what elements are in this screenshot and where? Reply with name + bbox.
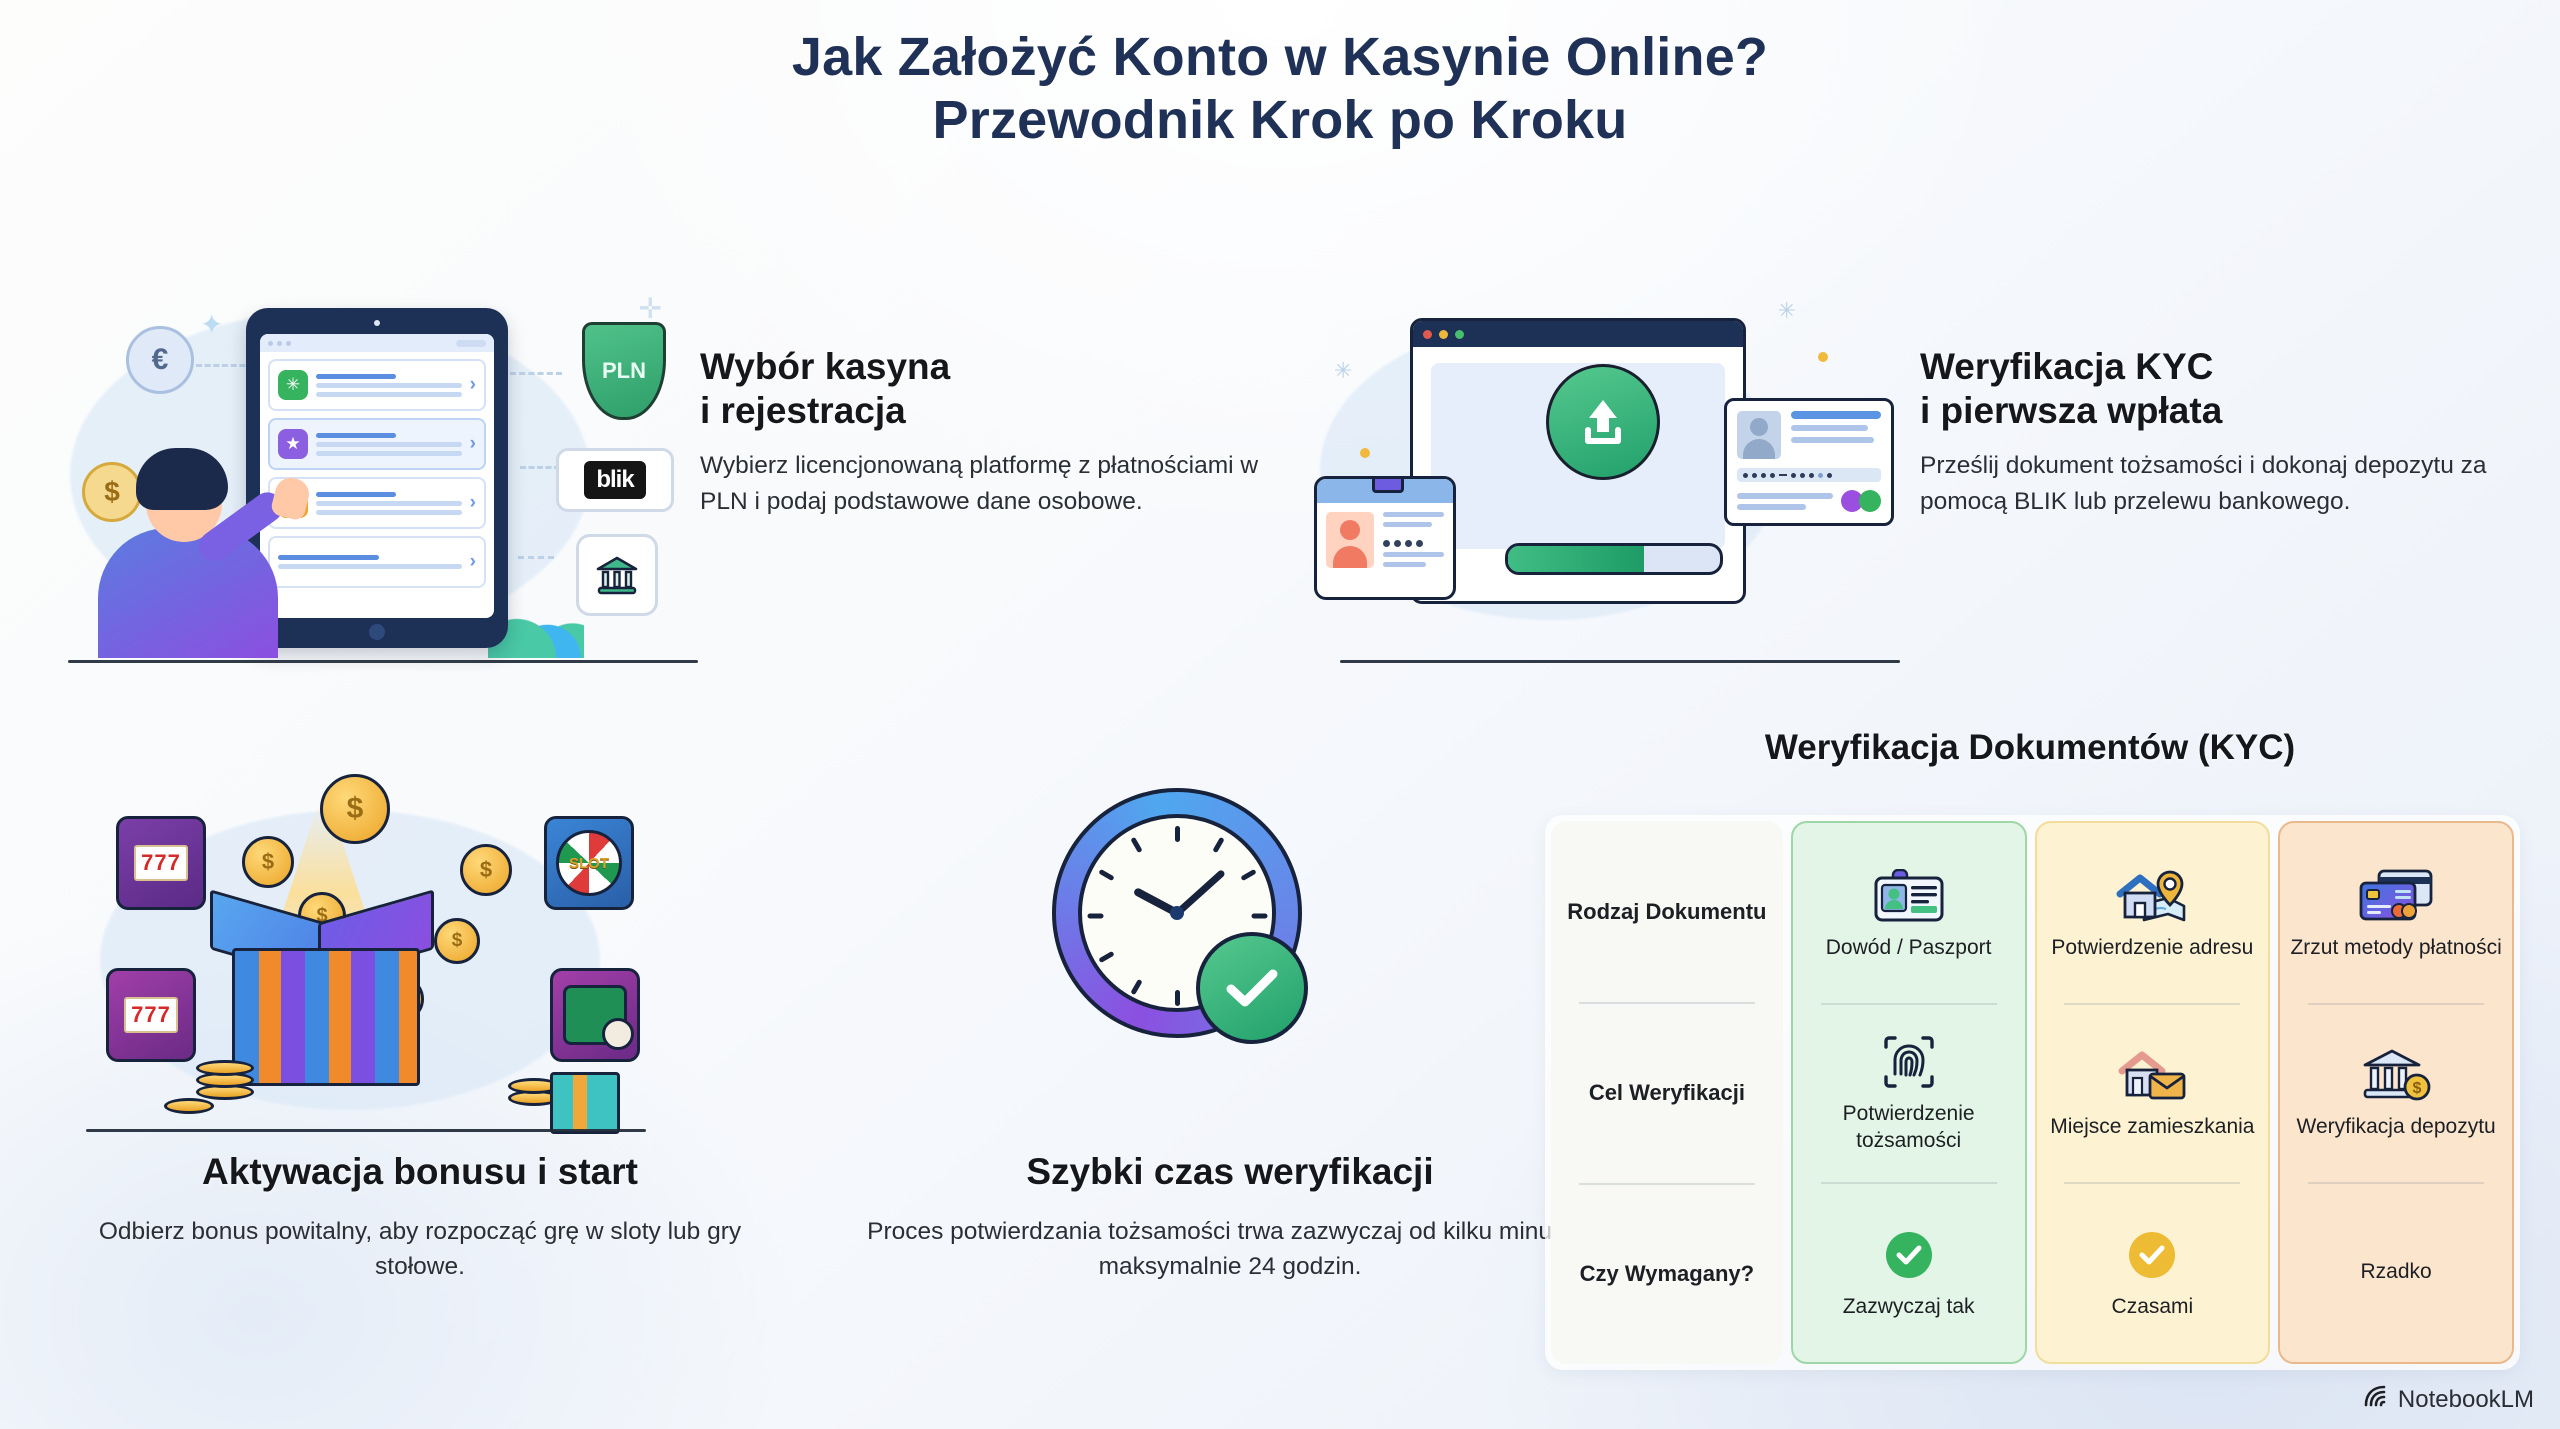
baseline-rule [86, 1129, 646, 1132]
dashed-connector [510, 372, 562, 375]
notebooklm-watermark: NotebookLM [2363, 1384, 2534, 1415]
illustration-clock [960, 770, 1440, 1110]
step-description: Proces potwierdzania tożsamości trwa zaz… [860, 1214, 1600, 1285]
casino-spin-icon: ✳ [278, 370, 308, 400]
kyc-column-identity: Dowód / Paszport Potwierdzenie tożsamośc… [1791, 821, 2027, 1364]
clock-center-pin [1170, 906, 1184, 920]
id-number-strip [1737, 468, 1881, 482]
person-illustration [98, 448, 288, 658]
roulette-wheel-tile: SLOT [544, 816, 634, 910]
close-icon[interactable] [1423, 330, 1432, 339]
gold-coin-icon: $ [242, 836, 294, 888]
app-titlebar [260, 334, 494, 352]
house-map-pin-icon [2114, 865, 2190, 927]
kyc-cell: Potwierdzenie tożsamości [1793, 1003, 2025, 1183]
check-circle-icon [1196, 932, 1308, 1044]
item-text-lines [316, 374, 462, 397]
dot-decoration [1360, 448, 1370, 458]
step-description: Prześlij dokument tożsamości i dokonaj d… [1920, 448, 2520, 519]
kyc-cell: Rzadko [2280, 1182, 2512, 1362]
coin-stack-icon [164, 1098, 214, 1114]
kyc-column-payment: Zrzut metody płatności $ Weryfikacja dep… [2278, 821, 2514, 1364]
card-scheme-icon [1841, 490, 1881, 512]
window-dot [268, 341, 273, 346]
window-dot [277, 341, 282, 346]
titlebar-pill [456, 340, 486, 347]
kyc-row-label: Cel Weryfikacji [1551, 1002, 1783, 1183]
id-photo [1737, 411, 1781, 459]
chevron-right-icon: › [470, 551, 476, 573]
fingerprint-icon [1880, 1031, 1938, 1093]
dot-decoration [1818, 352, 1828, 362]
maximize-icon[interactable] [1455, 330, 1464, 339]
casino-list-item-selected[interactable]: ★ › [268, 418, 486, 470]
badge-clip-icon [1372, 476, 1404, 493]
browser-titlebar [1413, 321, 1743, 347]
chevron-right-icon: › [470, 492, 476, 514]
kyc-cell: $ Weryfikacja depozytu [2280, 1003, 2512, 1183]
step-heading: Szybki czas weryfikacji [860, 1150, 1600, 1194]
gift-box [232, 948, 420, 1086]
item-text-lines [316, 433, 462, 456]
sparkle-icon: ✦ [200, 308, 223, 341]
upload-progress-bar [1505, 543, 1723, 575]
kyc-row-label: Rodzaj Dokumentu [1551, 821, 1783, 1002]
euro-coin-icon: € [126, 326, 194, 394]
person-body [98, 528, 278, 658]
badge-dots [1383, 540, 1444, 547]
chevron-right-icon: › [470, 433, 476, 455]
baseline-rule [1340, 660, 1900, 663]
check-circle-icon [1886, 1224, 1932, 1286]
svg-text:$: $ [2413, 1080, 2422, 1097]
notebooklm-label: NotebookLM [2398, 1386, 2534, 1414]
id-text-lines [1791, 411, 1881, 459]
person-hair [136, 448, 228, 510]
baseline-rule [68, 660, 698, 663]
dashed-connector [518, 556, 554, 559]
badge-text-lines [1383, 512, 1444, 568]
tablet-screen: ✳ › ★ › ฿ › › [260, 334, 494, 618]
credit-cards-icon [2357, 865, 2435, 927]
gold-coin-icon: $ [320, 774, 390, 844]
gold-coin-icon: $ [460, 844, 512, 896]
title-line-1: Jak Założyć Konto w Kasynie Online? [792, 27, 1768, 87]
step-heading: Aktywacja bonusu i start [60, 1150, 780, 1194]
step-aktywacja-bonusu: Aktywacja bonusu i start Odbierz bonus p… [60, 1150, 780, 1285]
casino-list-item[interactable]: ✳ › [268, 359, 486, 411]
page-title: Jak Założyć Konto w Kasynie Online? Prze… [0, 26, 2560, 151]
kyc-column-labels: Rodzaj Dokumentu Cel Weryfikacji Czy Wym… [1551, 821, 1783, 1364]
table-game-tile [550, 968, 640, 1062]
sparkle-icon: ✳ [1778, 298, 1796, 324]
item-text-lines [316, 492, 462, 515]
sparkle-icon: ✳ [1334, 358, 1352, 384]
step-description: Wybierz licencjonowaną platformę z płatn… [700, 448, 1300, 519]
step-heading: Weryfikacja KYC i pierwsza wpłata [1920, 345, 2520, 432]
kyc-table: Rodzaj Dokumentu Cel Weryfikacji Czy Wym… [1545, 815, 2520, 1370]
plus-sparkle-icon: ✛ [639, 292, 662, 325]
infographic-page: Jak Założyć Konto w Kasynie Online? Prze… [0, 0, 2560, 1429]
step-weryfikacja-kyc: Weryfikacja KYC i pierwsza wpłata Prześl… [1920, 345, 2520, 519]
id-card-icon [1873, 865, 1945, 927]
step-description: Odbierz bonus powitalny, aby rozpocząć g… [60, 1214, 780, 1285]
badge-photo [1326, 512, 1374, 568]
minimize-icon[interactable] [1439, 330, 1448, 339]
kyc-row-label: Czy Wymagany? [1551, 1183, 1783, 1364]
small-gift-icon [550, 1072, 620, 1134]
notebooklm-spiral-icon [2363, 1384, 2389, 1415]
chevron-right-icon: › [470, 374, 476, 396]
kyc-cell: Zazwyczaj tak [1793, 1182, 2025, 1362]
slot-tile-777: 777 [106, 968, 196, 1062]
item-text-lines [278, 555, 462, 569]
step-czas-weryfikacji: Szybki czas weryfikacji Proces potwierdz… [860, 1150, 1600, 1285]
illustration-bonus-box: 777 777 SLOT $ $ $ $ $ $ $ [60, 760, 680, 1140]
wheel-icon: SLOT [556, 830, 622, 896]
casino-list-item[interactable]: › [268, 536, 486, 588]
tablet-home-button [369, 624, 385, 640]
kyc-cell: Zrzut metody płatności [2280, 823, 2512, 1003]
kyc-column-address: Potwierdzenie adresu Miejsce zamieszkani… [2035, 821, 2271, 1364]
house-envelope-icon [2116, 1044, 2188, 1106]
illustration-casino-selection: ✦ ✛ ✦ € $ ✳ [60, 280, 680, 660]
blik-logo: blik [556, 448, 674, 512]
casino-table-icon [563, 985, 627, 1045]
bank-coin-icon: $ [2361, 1044, 2431, 1106]
kyc-cell: Potwierdzenie adresu [2037, 823, 2269, 1003]
title-line-2: Przewodnik Krok po Kroku [0, 89, 2560, 152]
tablet-camera-icon [374, 320, 380, 326]
upload-icon[interactable] [1546, 364, 1660, 480]
step-wybor-kasyna: Wybór kasyna i rejestracja Wybierz licen… [700, 345, 1300, 519]
clock-icon [1052, 788, 1302, 1038]
kyc-cell: Czasami [2037, 1182, 2269, 1362]
coin-stack-icon [196, 1060, 254, 1076]
kyc-table-title: Weryfikacja Dokumentów (KYC) [1560, 728, 2500, 768]
bank-icon [576, 534, 658, 616]
illustration-kyc-upload: ✳ ✳ [1300, 280, 1900, 660]
window-dot [286, 341, 291, 346]
pln-shield-icon: PLN [582, 322, 666, 420]
kyc-cell: Miejsce zamieszkania [2037, 1003, 2269, 1183]
gold-coin-icon: $ [434, 918, 480, 964]
slot-tile-777: 777 [116, 816, 206, 910]
check-circle-icon [2129, 1224, 2175, 1286]
step-heading: Wybór kasyna i rejestracja [700, 345, 1300, 432]
id-badge [1314, 476, 1456, 600]
id-card [1724, 398, 1894, 526]
dashed-connector [520, 466, 560, 469]
kyc-cell: Dowód / Paszport [1793, 823, 2025, 1003]
